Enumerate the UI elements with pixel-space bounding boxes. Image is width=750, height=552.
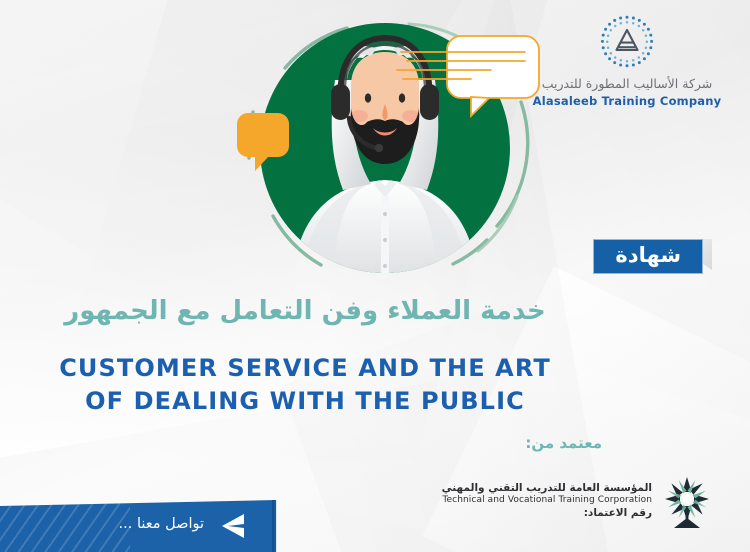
tvtc-star-burst-logo-icon [660, 474, 714, 528]
course-title-english-line1: CUSTOMER SERVICE AND THE ART [0, 352, 610, 385]
badge-ribbon-tail [702, 239, 712, 270]
accredited-by-label: معتمد من: [525, 434, 602, 452]
accreditation-authority-arabic: المؤسسة العامة للتدريب التقني والمهني [442, 482, 652, 495]
status-badge: شهادة [593, 239, 703, 274]
hero-illustration [225, 8, 555, 283]
accreditation-block: المؤسسة العامة للتدريب التقني والمهني Te… [442, 474, 714, 528]
contact-bar-edge-shadow [272, 500, 277, 552]
certificate-cover-page: شركة الأساليب المطورة للتدريب Alasaleeb … [0, 0, 750, 552]
contact-us-bar[interactable]: تواصل معنا ... [0, 500, 276, 552]
alasaleeb-dotted-circle-logo-icon [599, 14, 655, 70]
course-title-english: CUSTOMER SERVICE AND THE ART OF DEALING … [0, 352, 610, 418]
course-title-english-line2: OF DEALING WITH THE PUBLIC [0, 385, 610, 418]
accreditation-text: المؤسسة العامة للتدريب التقني والمهني Te… [442, 482, 652, 521]
course-title-arabic: خدمة العملاء وفن التعامل مع الجمهور [0, 296, 610, 327]
contact-us-label: تواصل معنا ... [119, 516, 204, 532]
accreditation-number-label: رقم الاعتماد: [442, 507, 652, 520]
contact-bar-stripes [0, 500, 130, 552]
accreditation-authority-english: Technical and Vocational Training Corpor… [442, 495, 652, 506]
chevron-left-icon[interactable] [218, 512, 250, 540]
